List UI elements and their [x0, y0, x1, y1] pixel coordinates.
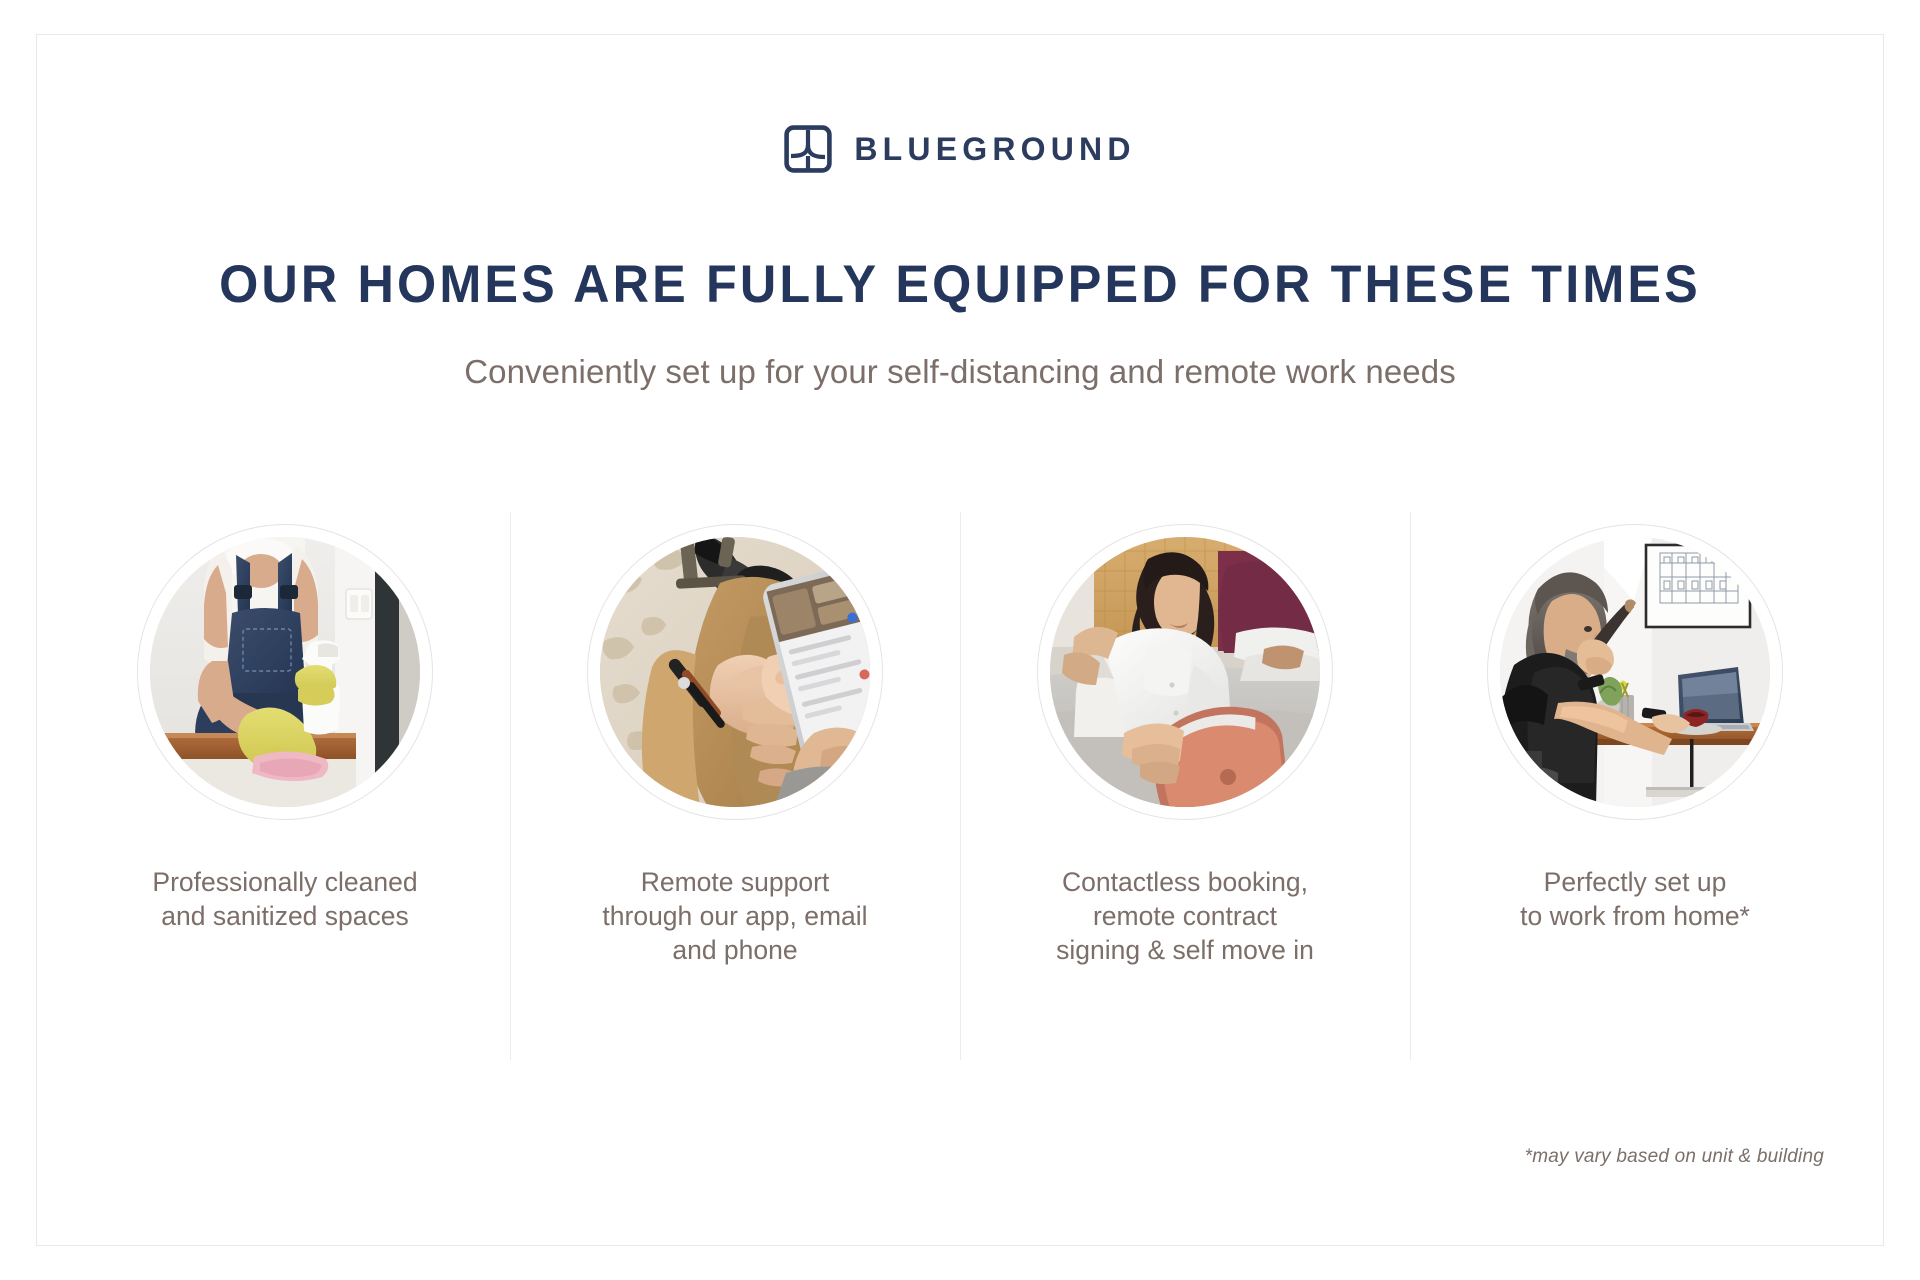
feature-column-cleaning: Professionally cleaned and sanitized spa… [60, 512, 510, 934]
phone-support-photo-ring [587, 524, 883, 820]
page-subtitle: Conveniently set up for your self-distan… [0, 352, 1920, 392]
caption-line: through our app, email [602, 900, 867, 934]
feature-caption: Professionally cleaned and sanitized spa… [152, 866, 417, 934]
feature-caption: Remote support through our app, email an… [602, 866, 867, 968]
work-from-home-photo-ring [1487, 524, 1783, 820]
feature-column-support: Remote support through our app, email an… [510, 512, 960, 968]
feature-column-workfromhome: Perfectly set up to work from home* [1410, 512, 1860, 934]
footnote: *may vary based on unit & building [1525, 1146, 1824, 1168]
feature-column-booking: Contactless booking, remote contract sig… [960, 512, 1410, 968]
caption-line: and sanitized spaces [152, 900, 417, 934]
phone-support-photo [600, 537, 870, 807]
promo-page: BLUEGROUND OUR HOMES ARE FULLY EQUIPPED … [0, 0, 1920, 1280]
caption-line: Perfectly set up [1520, 866, 1750, 900]
caption-line: and phone [602, 934, 867, 968]
blueground-square-mark-icon [784, 125, 832, 173]
caption-line: remote contract [1056, 900, 1314, 934]
feature-caption: Perfectly set up to work from home* [1520, 866, 1750, 934]
brand-name: BLUEGROUND [854, 133, 1135, 165]
contactless-booking-photo [1050, 537, 1320, 807]
work-from-home-photo [1500, 537, 1770, 807]
feature-caption: Contactless booking, remote contract sig… [1056, 866, 1314, 968]
page-title: OUR HOMES ARE FULLY EQUIPPED FOR THESE T… [48, 256, 1872, 314]
contactless-booking-photo-ring [1037, 524, 1333, 820]
cleaning-photo [150, 537, 420, 807]
caption-line: Remote support [602, 866, 867, 900]
caption-line: Professionally cleaned [152, 866, 417, 900]
cleaning-photo-ring [137, 524, 433, 820]
caption-line: signing & self move in [1056, 934, 1314, 968]
caption-line: Contactless booking, [1056, 866, 1314, 900]
feature-columns: Professionally cleaned and sanitized spa… [60, 512, 1860, 968]
brand-logo[interactable]: BLUEGROUND [0, 125, 1920, 173]
caption-line: to work from home* [1520, 900, 1750, 934]
